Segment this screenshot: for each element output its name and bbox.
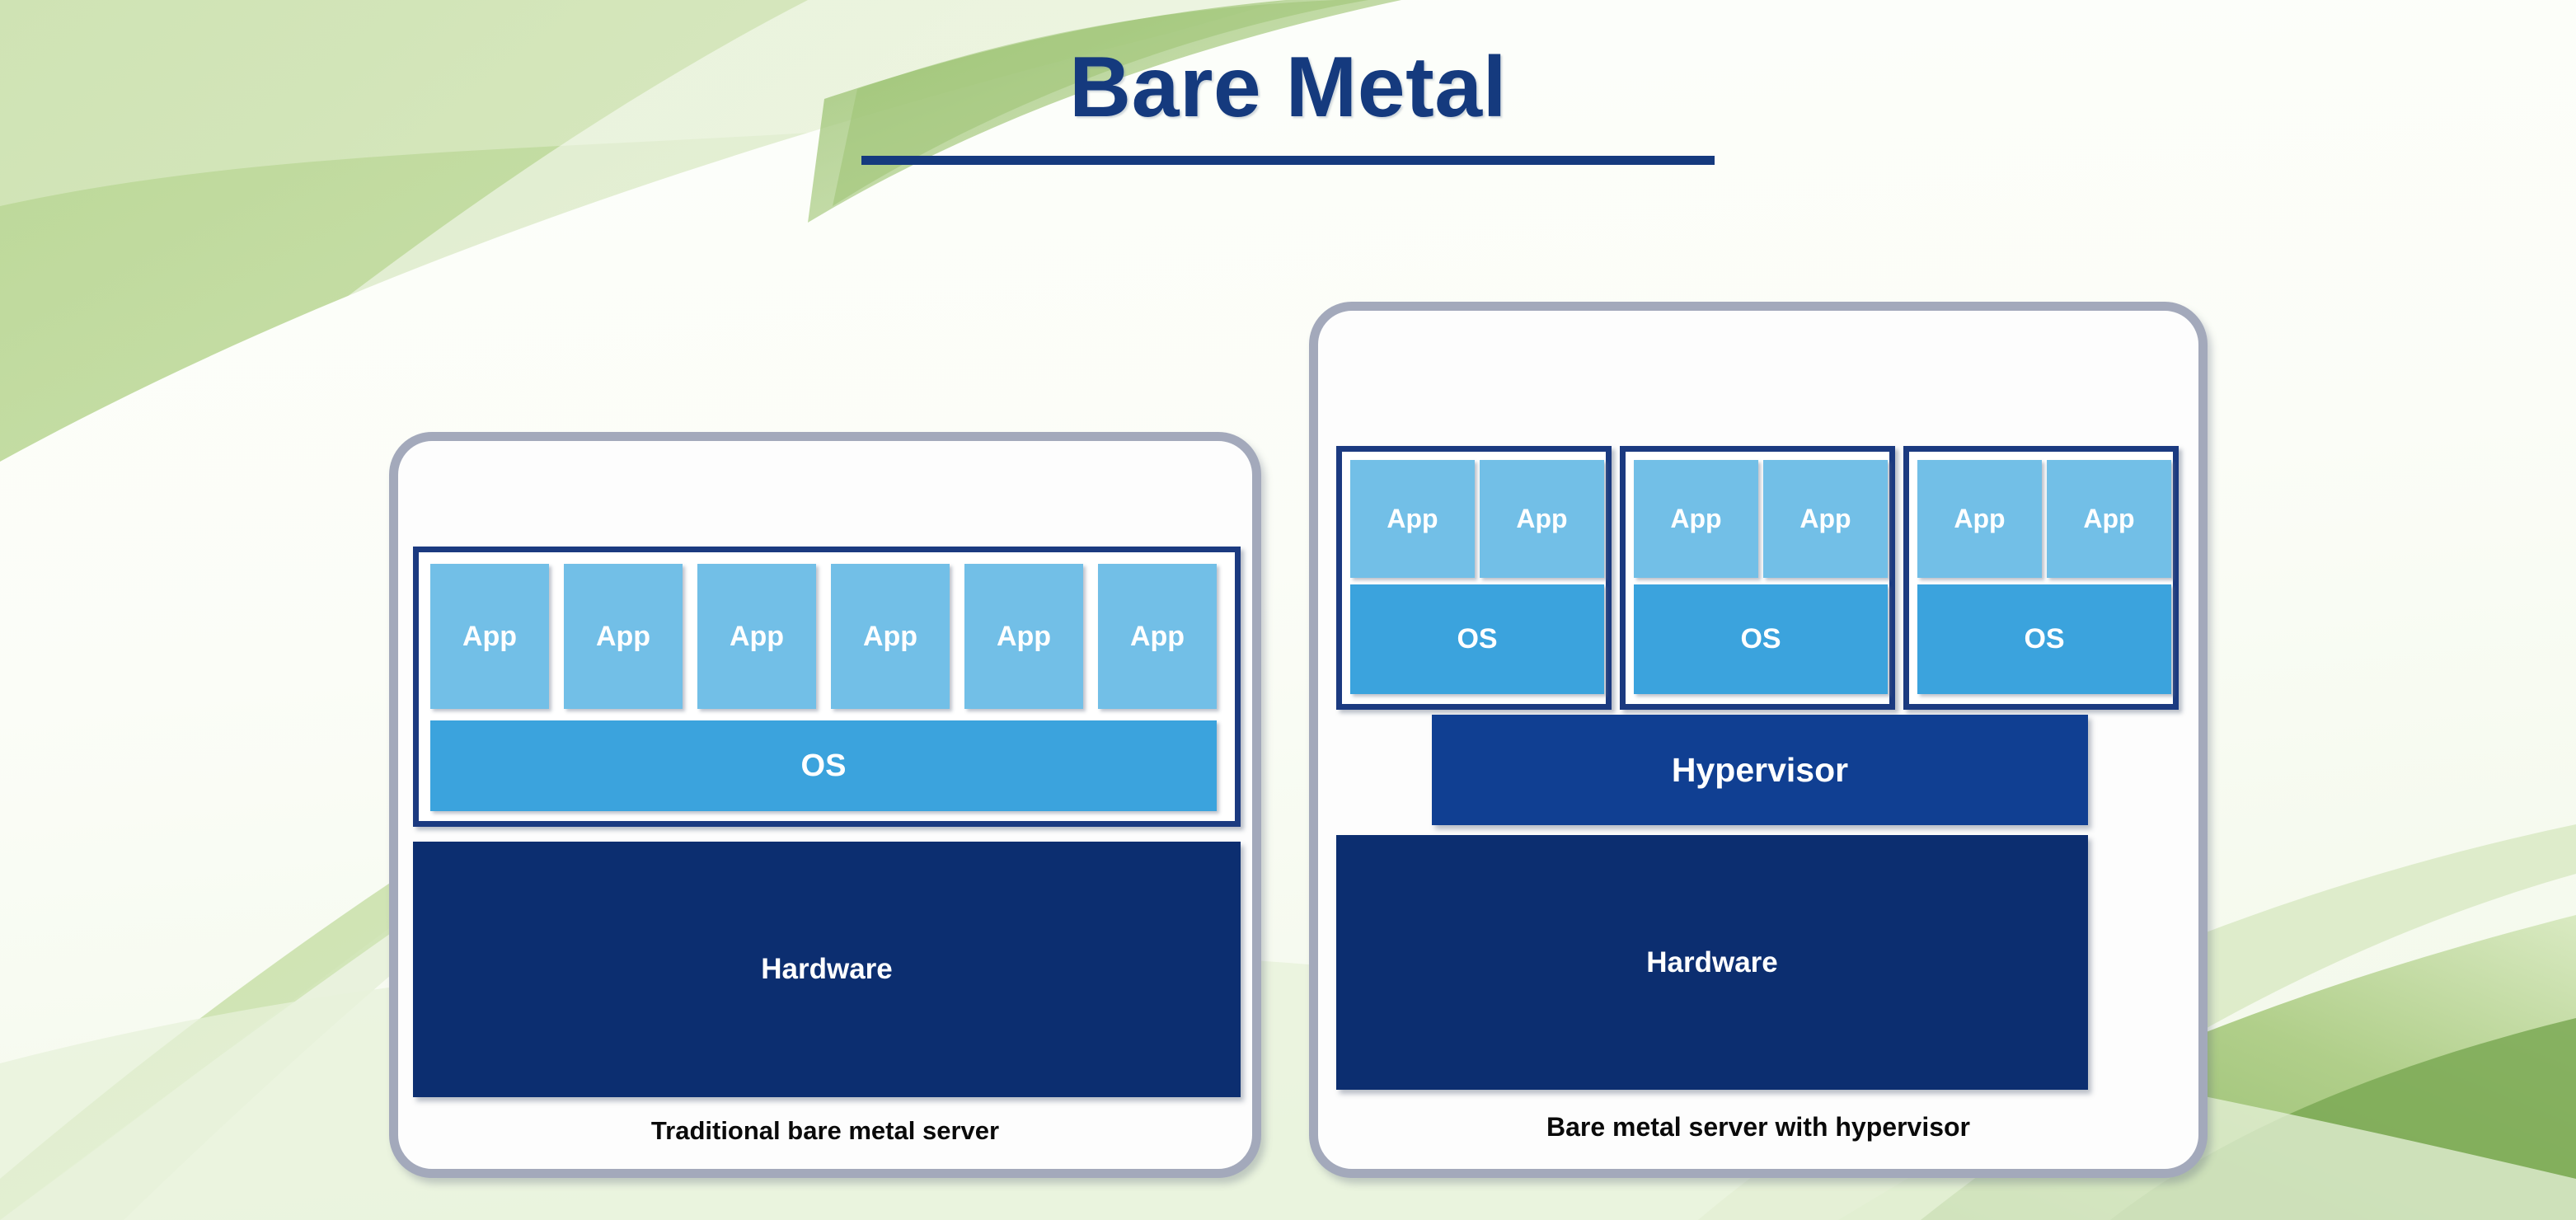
app-box[interactable]: App [697, 564, 816, 709]
os-bar[interactable]: OS [1917, 584, 2171, 694]
panel-traditional-body: App App App App App App OS Hardware [398, 441, 1252, 1116]
app-box[interactable]: App [831, 564, 950, 709]
os-bar[interactable]: OS [1350, 584, 1604, 694]
os-bar[interactable]: OS [1634, 584, 1888, 694]
vm-container[interactable]: App App OS [1903, 446, 2179, 710]
panel-traditional-bare-metal[interactable]: App App App App App App OS Hardware Trad… [389, 432, 1261, 1178]
panel-hypervisor-body: App App OS App App OS App App OS Hypervi… [1318, 311, 2198, 1112]
hypervisor-bar[interactable]: Hypervisor [1432, 715, 2088, 825]
vm-container[interactable]: App App OS [1336, 446, 1612, 710]
panel-caption-hypervisor: Bare metal server with hypervisor [1318, 1112, 2198, 1143]
app-box[interactable]: App [564, 564, 683, 709]
app-box[interactable]: App [1098, 564, 1217, 709]
app-box[interactable]: App [964, 564, 1083, 709]
app-box[interactable]: App [2047, 460, 2171, 578]
app-box[interactable]: App [430, 564, 549, 709]
vm-container[interactable]: App App OS [1620, 446, 1895, 710]
panel-bare-metal-hypervisor[interactable]: App App OS App App OS App App OS Hypervi… [1309, 302, 2208, 1178]
page-title: Bare Metal [0, 43, 2576, 133]
app-box[interactable]: App [1917, 460, 2042, 578]
title-underline [861, 156, 1715, 165]
app-box[interactable]: App [1634, 460, 1758, 578]
app-box[interactable]: App [1480, 460, 1604, 578]
os-bar[interactable]: OS [430, 720, 1217, 811]
hardware-bar[interactable]: Hardware [413, 842, 1241, 1097]
traditional-os-frame: App App App App App App OS [413, 547, 1241, 827]
app-box[interactable]: App [1350, 460, 1475, 578]
title-block: Bare Metal [0, 43, 2576, 165]
diagram-stage: App App App App App App OS Hardware Trad… [0, 0, 2576, 1220]
panel-caption-traditional: Traditional bare metal server [398, 1116, 1252, 1146]
app-box[interactable]: App [1763, 460, 1888, 578]
hardware-bar[interactable]: Hardware [1336, 835, 2088, 1090]
